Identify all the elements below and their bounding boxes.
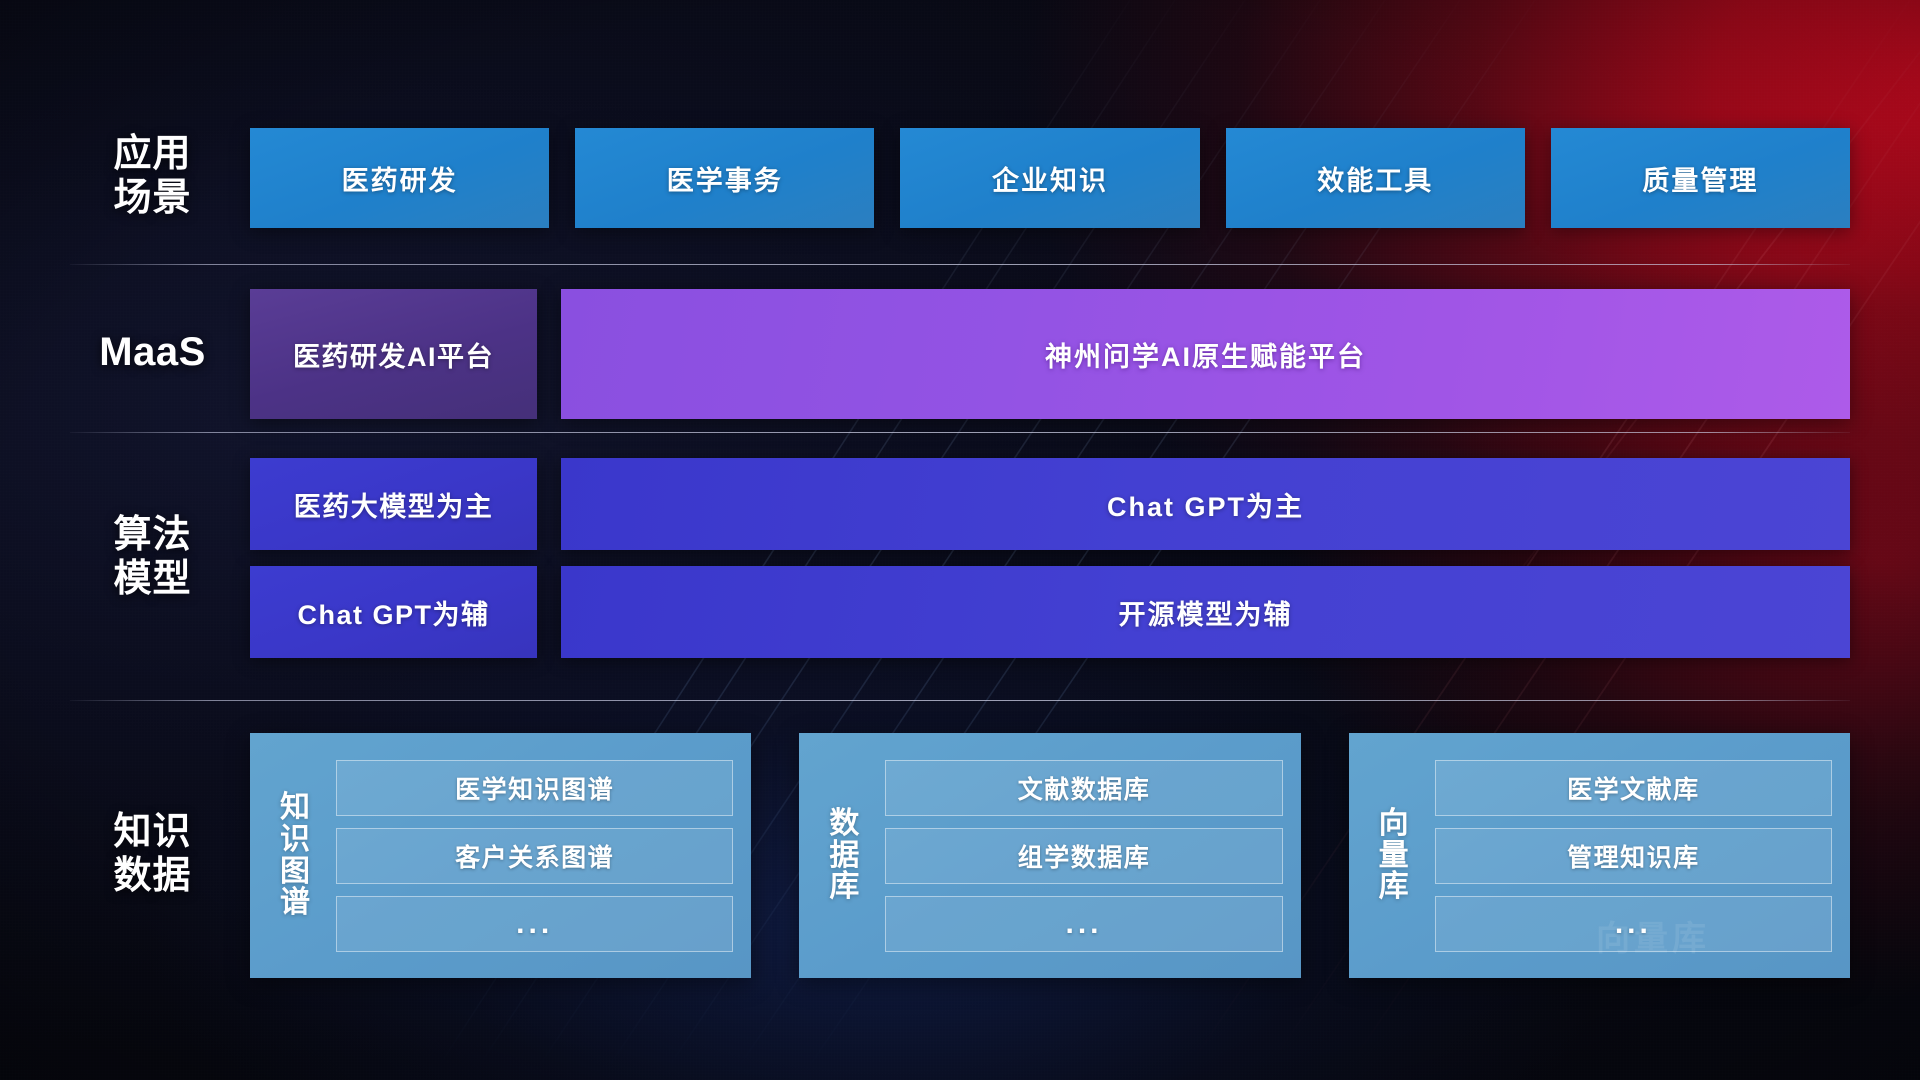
knowledge-panel-knowledge-graph[interactable]: 知识图谱 医学知识图谱 客户关系图谱 ... [250,733,751,978]
knowledge-item-more-database[interactable]: ... [885,896,1282,952]
row-label-line-2: 数据 [70,854,235,898]
scenario-tile-2[interactable]: 企业知识 [900,128,1199,228]
scenario-tile-1[interactable]: 医学事务 [575,128,874,228]
knowledge-items-knowledge-graph: 医学知识图谱 客户关系图谱 ... [336,760,733,952]
algorithm-tile-primary-left[interactable]: 医药大模型为主 [250,458,537,550]
architecture-diagram: 应用 场景 医药研发 医学事务 企业知识 效能工具 质量管理 MaaS 医药研发… [0,0,1920,1080]
row-label-line-1: 算法 [70,513,235,557]
knowledge-item-more-knowledge-graph[interactable]: ... [336,896,733,952]
maas-tiles: 医药研发AI平台 神州问学AI原生赋能平台 [250,289,1850,419]
knowledge-item-medical-literature-store[interactable]: 医学文献库 [1435,760,1832,816]
knowledge-item-more-vector-store[interactable]: ... [1435,896,1832,952]
knowledge-item-management-knowledge-store[interactable]: 管理知识库 [1435,828,1832,884]
maas-tile-pharma-ai-platform[interactable]: 医药研发AI平台 [250,289,537,419]
row-application-scenarios: 应用 场景 医药研发 医学事务 企业知识 效能工具 质量管理 [70,128,1850,228]
knowledge-panels: 知识图谱 医学知识图谱 客户关系图谱 ... 数据库 文献数据库 组学数据库 .… [250,733,1850,978]
algorithm-line-1: Chat GPT为辅 开源模型为辅 [250,566,1850,658]
row-algorithm-models: 算法 模型 医药大模型为主 Chat GPT为主 Chat GPT为辅 开源模型… [70,458,1850,658]
algorithm-tile-primary-right[interactable]: Chat GPT为主 [561,458,1850,550]
divider-2 [70,432,1850,433]
row-label-maas: MaaS [70,329,235,375]
row-knowledge-data: 知识 数据 知识图谱 医学知识图谱 客户关系图谱 ... 数据库 文献数据库 组… [70,733,1850,978]
scenario-tile-0[interactable]: 医药研发 [250,128,549,228]
knowledge-panel-label-database: 数据库 [815,808,873,903]
knowledge-panel-label-vector-store: 向量库 [1365,808,1423,903]
row-label-line-1: 应用 [70,132,235,176]
row-label-algorithm-models: 算法 模型 [70,513,235,601]
knowledge-items-database: 文献数据库 组学数据库 ... [885,760,1282,952]
row-label-line-1: 知识 [70,810,235,854]
knowledge-item-literature-database[interactable]: 文献数据库 [885,760,1282,816]
algorithm-tile-secondary-left[interactable]: Chat GPT为辅 [250,566,537,658]
scenario-tiles: 医药研发 医学事务 企业知识 效能工具 质量管理 [250,128,1850,228]
divider-3 [70,700,1850,701]
maas-tile-shenzhou-wenxue-platform[interactable]: 神州问学AI原生赋能平台 [561,289,1850,419]
algorithm-line-0: 医药大模型为主 Chat GPT为主 [250,458,1850,550]
algorithm-tiles: 医药大模型为主 Chat GPT为主 Chat GPT为辅 开源模型为辅 [250,458,1850,658]
knowledge-items-vector-store: 医学文献库 管理知识库 ... [1435,760,1832,952]
row-label-line-2: 场景 [70,176,235,220]
row-maas: MaaS 医药研发AI平台 神州问学AI原生赋能平台 [70,289,1850,419]
row-label-line-2: 模型 [70,557,235,601]
knowledge-panel-vector-store[interactable]: 向量库 医学文献库 管理知识库 ... [1349,733,1850,978]
knowledge-panel-label-knowledge-graph: 知识图谱 [266,792,324,919]
knowledge-panel-database[interactable]: 数据库 文献数据库 组学数据库 ... [799,733,1300,978]
scenario-tile-4[interactable]: 质量管理 [1551,128,1850,228]
row-label-knowledge-data: 知识 数据 [70,810,235,898]
algorithm-tile-secondary-right[interactable]: 开源模型为辅 [561,566,1850,658]
knowledge-item-customer-relation-graph[interactable]: 客户关系图谱 [336,828,733,884]
divider-1 [70,264,1850,265]
scenario-tile-3[interactable]: 效能工具 [1226,128,1525,228]
knowledge-item-medical-knowledge-graph[interactable]: 医学知识图谱 [336,760,733,816]
row-label-application-scenarios: 应用 场景 [70,132,235,220]
knowledge-item-omics-database[interactable]: 组学数据库 [885,828,1282,884]
